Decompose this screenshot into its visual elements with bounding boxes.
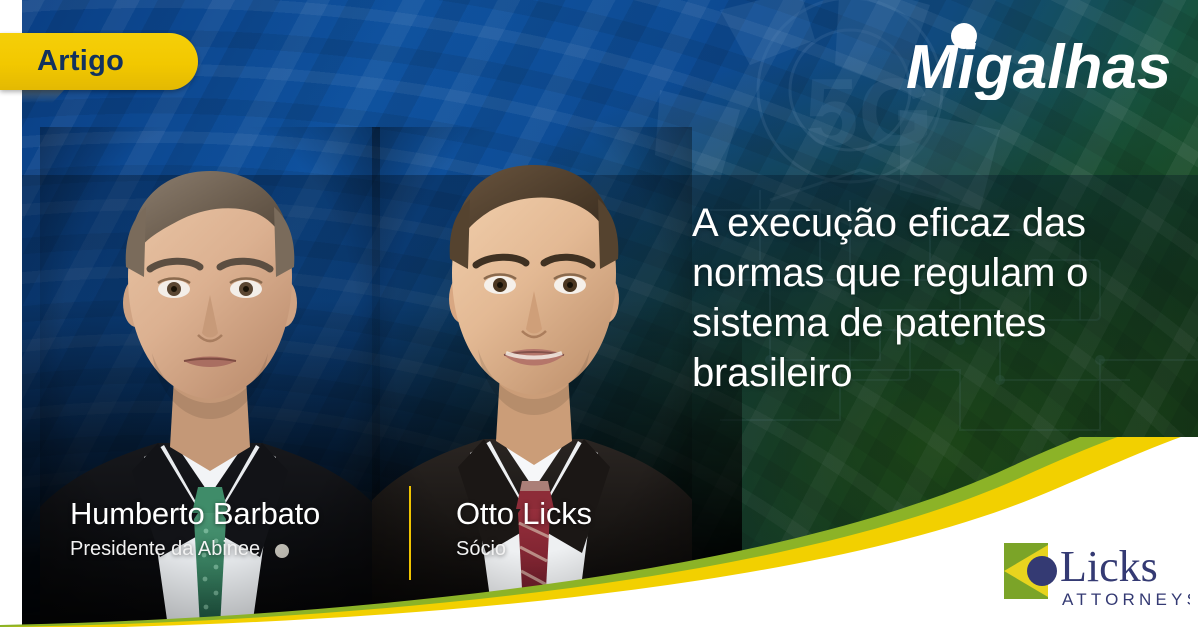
licks-logo-name: Licks (1060, 542, 1158, 591)
speaker-divider (409, 486, 411, 580)
speaker-name: Humberto Barbato (70, 495, 320, 533)
article-banner: 5G (0, 0, 1198, 627)
speaker-role: Sócio (456, 536, 592, 563)
migalhas-logo-text: Migalhas (906, 33, 1171, 100)
speaker-role: Presidente da Abinee (70, 536, 320, 563)
migalhas-logo[interactable]: Migalhas (906, 22, 1176, 100)
licks-attorneys-logo[interactable]: Licks ATTORNEYS (994, 533, 1190, 613)
licks-logo-tagline: ATTORNEYS (1062, 590, 1190, 609)
article-badge[interactable]: Artigo (0, 33, 198, 90)
licks-mark-navy-circle (1027, 556, 1057, 586)
article-badge-label: Artigo (37, 47, 124, 76)
speaker-humberto-barbato: Humberto Barbato Presidente da Abinee (70, 495, 320, 563)
speaker-name: Otto Licks (456, 495, 592, 533)
left-white-margin (0, 0, 22, 627)
speaker-otto-licks: Otto Licks Sócio (456, 495, 592, 563)
headline: A execução eficaz das normas que regulam… (692, 198, 1184, 398)
